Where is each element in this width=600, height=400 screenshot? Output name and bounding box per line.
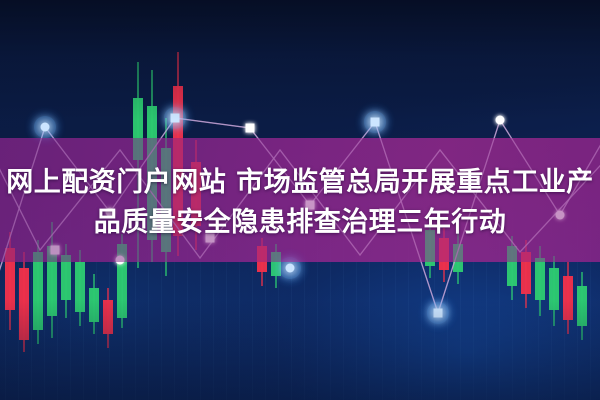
candle-group-overlay <box>5 52 587 352</box>
promo-banner: 网上配资门户网站 市场监管总局开展重点工业产 品质量安全隐患排查治理三年行动 <box>0 0 600 400</box>
chart-overlay-through-band <box>0 0 600 400</box>
headline-line-2: 品质量安全隐患排查治理三年行动 <box>0 206 600 240</box>
headline-line-1: 网上配资门户网站 市场监管总局开展重点工业产 <box>0 166 600 200</box>
